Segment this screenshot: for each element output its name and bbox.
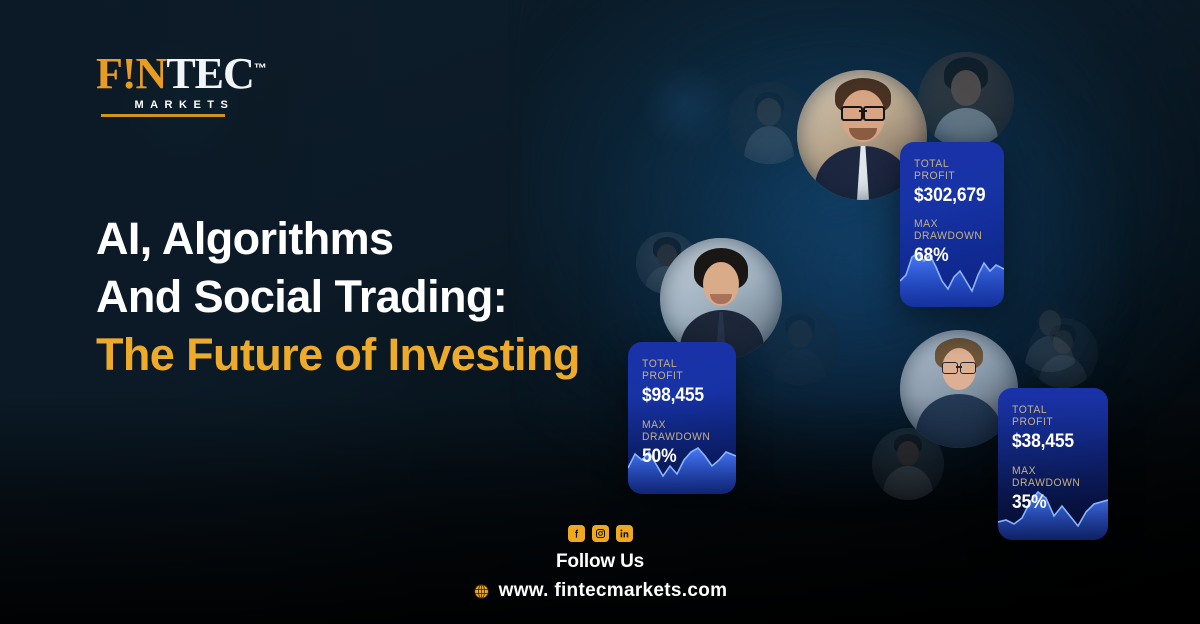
headline-line-3: The Future of Investing bbox=[96, 326, 580, 384]
logo-wordmark: F!NTEC™ bbox=[96, 52, 267, 96]
background-light-spot bbox=[640, 60, 730, 150]
instagram-icon[interactable] bbox=[592, 525, 609, 542]
total-profit-label: TOTAL PROFIT bbox=[642, 358, 717, 382]
stat-card: TOTAL PROFIT $98,455 MAX DRAWDOWN 50% bbox=[628, 342, 736, 494]
max-drawdown-value: 68% bbox=[914, 245, 984, 267]
total-profit-value: $98,455 bbox=[642, 385, 716, 407]
facebook-glyph bbox=[571, 528, 582, 539]
headline-line-2: And Social Trading: bbox=[96, 268, 580, 326]
max-drawdown-value: 50% bbox=[642, 446, 716, 468]
instagram-glyph bbox=[595, 528, 606, 539]
stat-card: TOTAL PROFIT $38,455 MAX DRAWDOWN 35% bbox=[998, 388, 1108, 540]
marketing-banner: TOTAL PROFIT $302,679 MAX DRAWDOWN 68% T… bbox=[0, 0, 1200, 624]
max-drawdown-label: MAX DRAWDOWN bbox=[642, 419, 717, 443]
globe-icon bbox=[473, 583, 490, 600]
total-profit-label: TOTAL PROFIT bbox=[914, 158, 985, 182]
linkedin-icon[interactable] bbox=[616, 525, 633, 542]
stat-card: TOTAL PROFIT $302,679 MAX DRAWDOWN 68% bbox=[900, 142, 1004, 307]
total-profit-value: $38,455 bbox=[1012, 431, 1087, 453]
logo-underline bbox=[101, 114, 225, 117]
facebook-icon[interactable] bbox=[568, 525, 585, 542]
logo-text-fin: F!N bbox=[96, 49, 166, 98]
logo-tagline: MARKETS bbox=[96, 99, 267, 111]
page-title: AI, Algorithms And Social Trading: The F… bbox=[96, 210, 580, 384]
total-profit-value: $302,679 bbox=[914, 185, 984, 207]
max-drawdown-label: MAX DRAWDOWN bbox=[914, 218, 985, 242]
total-profit-label: TOTAL PROFIT bbox=[1012, 404, 1089, 428]
max-drawdown-value: 35% bbox=[1012, 492, 1087, 514]
max-drawdown-label: MAX DRAWDOWN bbox=[1012, 465, 1089, 489]
portrait-circle bbox=[1028, 318, 1098, 388]
brand-logo[interactable]: F!NTEC™ MARKETS bbox=[96, 52, 267, 117]
follow-us-label: Follow Us bbox=[0, 551, 1200, 573]
website-url[interactable]: www. fintecmarkets.com bbox=[499, 580, 728, 602]
headline-line-1: AI, Algorithms bbox=[96, 210, 580, 268]
trademark-icon: ™ bbox=[254, 60, 267, 75]
logo-text-tec: TEC bbox=[166, 49, 253, 98]
linkedin-glyph bbox=[619, 528, 630, 539]
website-row[interactable]: www. fintecmarkets.com bbox=[0, 580, 1200, 602]
portrait-circle bbox=[918, 52, 1014, 148]
